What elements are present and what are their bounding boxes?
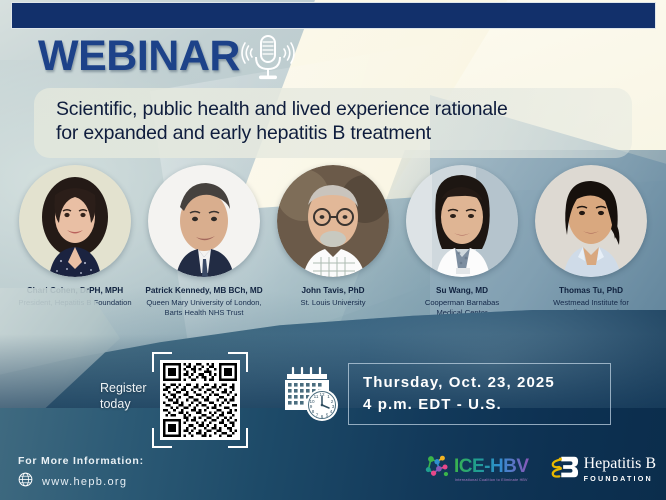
svg-text:7: 7: [316, 413, 319, 418]
speaker-affiliation: Cooperman Barnabas: [425, 298, 499, 308]
speaker-name: Thomas Tu, PhD: [559, 286, 623, 296]
speaker-card: Su Wang, MD Cooperman Barnabas Medical C…: [403, 165, 521, 318]
calendar-clock-icon: 1212 345 678 91011: [281, 365, 343, 423]
molecule-icon: [423, 452, 453, 487]
register-label-line-1: Register: [100, 381, 147, 397]
qr-code-icon[interactable]: [160, 360, 240, 440]
hbf-b-snake-icon: [551, 453, 579, 486]
register-label: Register today: [100, 381, 147, 412]
svg-text:11: 11: [314, 394, 319, 399]
hbf-subtitle: FOUNDATION: [584, 474, 656, 483]
subtitle-line-2: for expanded and early hepatitis B treat…: [56, 122, 610, 146]
svg-text:9: 9: [310, 404, 313, 409]
more-info-label: For More Information:: [18, 455, 144, 467]
qr-code-scan-frame[interactable]: [152, 352, 248, 448]
ice-hbv-name: ICE-HBV: [454, 456, 529, 477]
ice-hbv-tagline: International Coalition to Eliminate HBV: [454, 478, 529, 482]
svg-text:6: 6: [321, 414, 324, 419]
globe-icon: [18, 472, 33, 492]
svg-text:10: 10: [309, 399, 315, 404]
website-url[interactable]: www.hepb.org: [42, 476, 127, 488]
webinar-heading: WEBINAR: [38, 29, 296, 83]
speaker-card: Thomas Tu, PhD Westmead Institute for Me…: [532, 165, 650, 318]
headshot-thomas-tu: [535, 165, 647, 277]
website-row[interactable]: www.hepb.org: [18, 472, 144, 492]
webinar-poster: WEBINAR: [0, 0, 666, 500]
logo-row: ICE-HBV International Coalition to Elimi…: [423, 452, 656, 487]
headshot-patrick-kennedy: [148, 165, 260, 277]
svg-text:4: 4: [330, 409, 333, 414]
top-navy-bar: [11, 2, 656, 29]
event-date: Thursday, Oct. 23, 2025: [363, 372, 610, 395]
more-info-block: For More Information: www.hepb.org: [18, 455, 144, 492]
hepatitis-b-foundation-logo: Hepatitis B FOUNDATION: [551, 453, 656, 486]
svg-text:8: 8: [312, 409, 315, 414]
headshot-chari-cohen: [19, 165, 131, 277]
event-date-box: Thursday, Oct. 23, 2025 4 p.m. EDT - U.S…: [348, 363, 611, 425]
hbf-name: Hepatitis B: [584, 456, 656, 472]
webinar-title: WEBINAR: [38, 35, 240, 78]
headshot-john-tavis: [277, 165, 389, 277]
speaker-affiliation: Westmead Institute for: [553, 298, 629, 308]
event-time: 4 p.m. EDT - U.S.: [363, 394, 610, 417]
speaker-name: Su Wang, MD: [436, 286, 488, 296]
webinar-subtitle-box: Scientific, public health and lived expe…: [34, 88, 632, 158]
svg-text:5: 5: [326, 413, 329, 418]
register-label-line-2: today: [100, 397, 147, 413]
ice-hbv-logo: ICE-HBV International Coalition to Elimi…: [423, 452, 529, 487]
microphone-icon: [240, 31, 296, 83]
headshot-su-wang: [406, 165, 518, 277]
subtitle-line-1: Scientific, public health and lived expe…: [56, 98, 610, 122]
